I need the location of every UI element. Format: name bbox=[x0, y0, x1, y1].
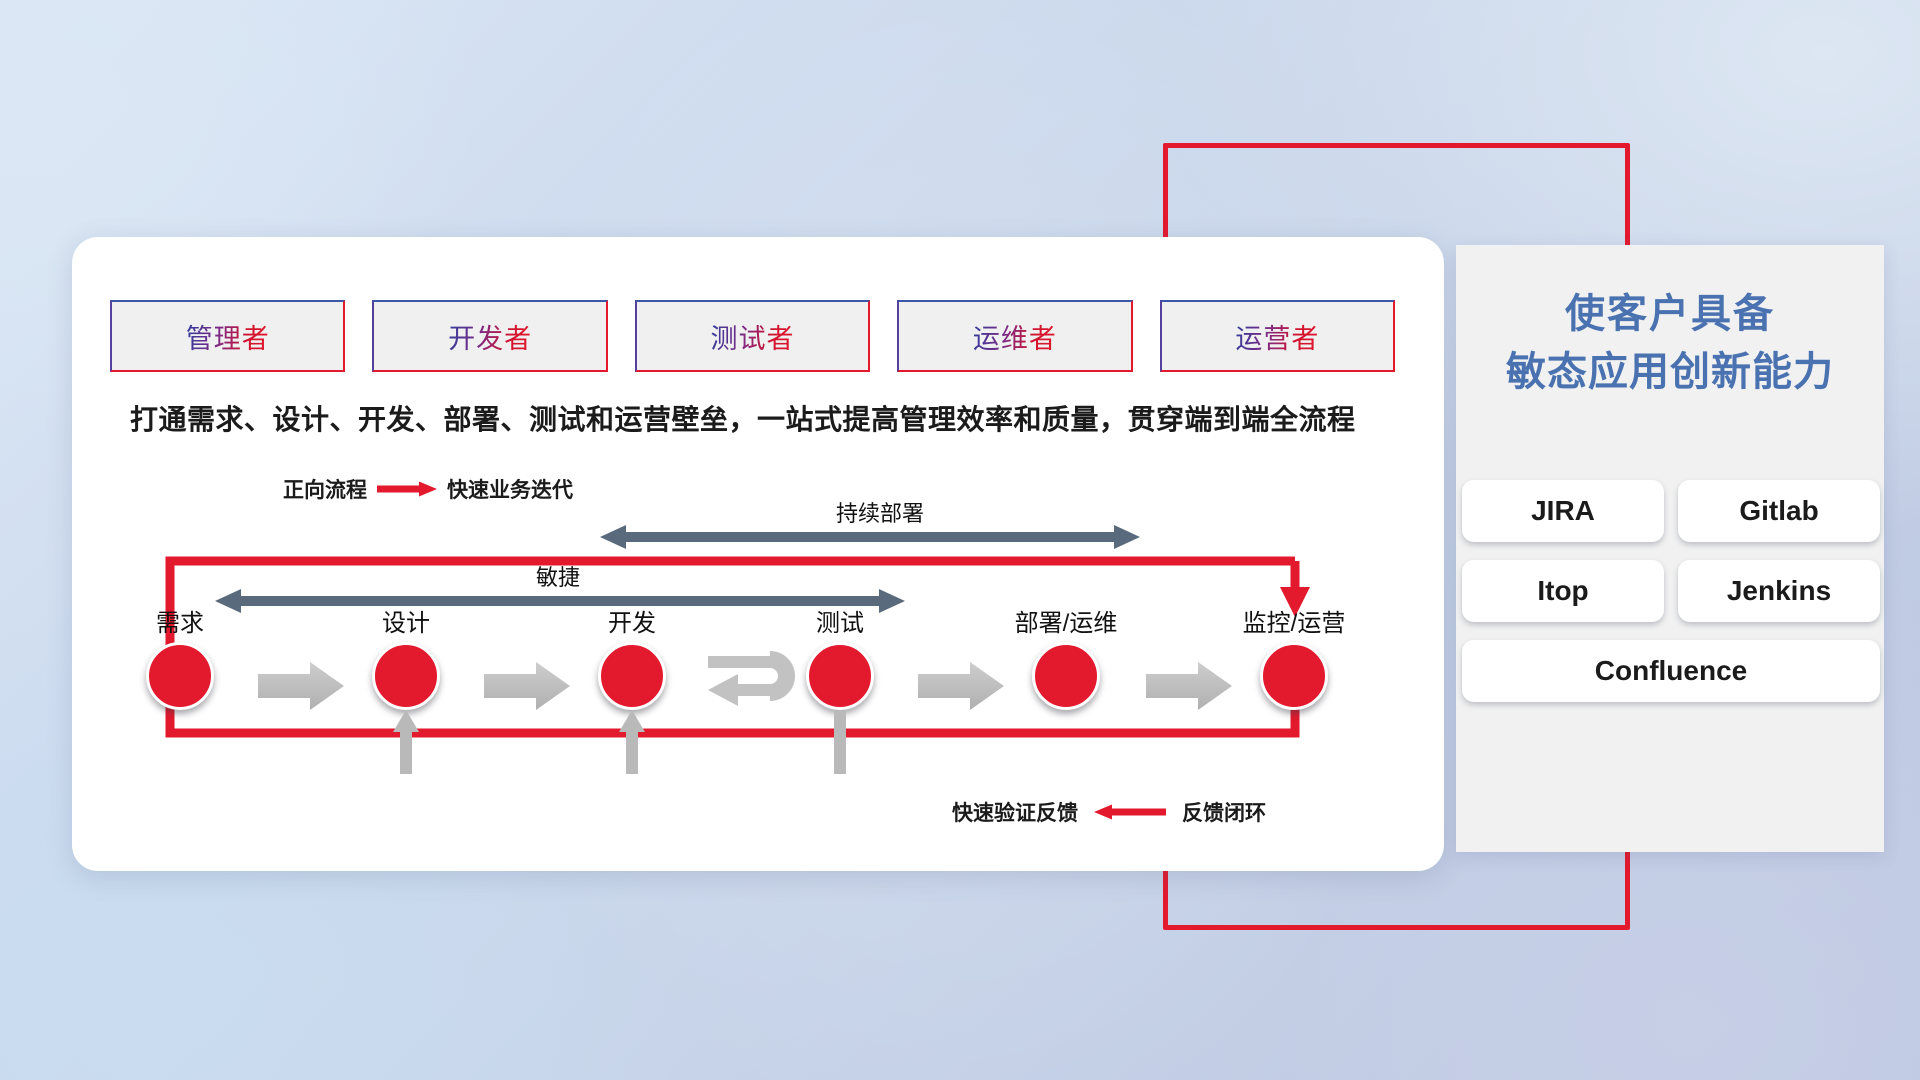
stage-dot bbox=[598, 642, 666, 710]
tool-label: JIRA bbox=[1531, 495, 1595, 527]
tool-label: Gitlab bbox=[1739, 495, 1818, 527]
role-box-manager[interactable]: 管理者 bbox=[110, 300, 345, 372]
role-box-tester[interactable]: 测试者 bbox=[635, 300, 870, 372]
stage-label: 部署/运维 bbox=[996, 612, 1136, 636]
role-label: 管理者 bbox=[186, 317, 270, 356]
role-box-developer[interactable]: 开发者 bbox=[372, 300, 607, 372]
tool-chip-itop[interactable]: Itop bbox=[1462, 560, 1664, 622]
tool-label: Jenkins bbox=[1727, 575, 1831, 607]
gray-right-arrow-icon bbox=[484, 660, 570, 712]
stage-design[interactable]: 设计 bbox=[336, 612, 476, 710]
stage-label: 开发 bbox=[562, 612, 702, 636]
stage-dot bbox=[1032, 642, 1100, 710]
role-label: 运营者 bbox=[1235, 317, 1319, 356]
tool-label: Confluence bbox=[1595, 655, 1747, 687]
role-box-ops[interactable]: 运维者 bbox=[897, 300, 1132, 372]
role-label: 运维者 bbox=[973, 317, 1057, 356]
forward-flow-left-label: 正向流程 bbox=[283, 474, 367, 504]
stage-dot bbox=[806, 642, 874, 710]
forward-flow-right-label: 快速业务迭代 bbox=[447, 474, 573, 504]
gray-up-arrow-icon bbox=[393, 710, 419, 774]
gray-right-arrow-icon bbox=[1146, 660, 1232, 712]
stage-testing[interactable]: 测试 bbox=[770, 612, 910, 710]
tool-chip-jira[interactable]: JIRA bbox=[1462, 480, 1664, 542]
stage-label: 需求 bbox=[110, 612, 250, 636]
stage-requirements[interactable]: 需求 bbox=[110, 612, 250, 710]
stage-label: 设计 bbox=[336, 612, 476, 636]
role-box-operations[interactable]: 运营者 bbox=[1160, 300, 1395, 372]
feedback-left-label: 快速验证反馈 bbox=[952, 797, 1078, 827]
tool-chip-gitlab[interactable]: Gitlab bbox=[1678, 480, 1880, 542]
gray-up-arrow-icon bbox=[619, 710, 645, 774]
stage-dot bbox=[1260, 642, 1328, 710]
stage-label: 测试 bbox=[770, 612, 910, 636]
forward-flow-legend: 正向流程 快速业务迭代 bbox=[283, 473, 573, 505]
outcome-panel-title: 使客户具备 敏态应用创新能力 bbox=[1456, 285, 1884, 401]
feedback-right-label: 反馈闭环 bbox=[1182, 797, 1266, 827]
stage-dot bbox=[372, 642, 440, 710]
role-label: 测试者 bbox=[711, 317, 795, 356]
tool-chip-grid: JIRA Gitlab Itop Jenkins Confluence bbox=[1462, 480, 1880, 702]
headline-text: 打通需求、设计、开发、部署、测试和运营壁垒，一站式提高管理效率和质量，贯穿端到端… bbox=[130, 398, 1430, 438]
pipeline-stages: 需求 设计 开发 测试 部署/运维 监控/运营 bbox=[110, 612, 1430, 772]
tool-chip-jenkins[interactable]: Jenkins bbox=[1678, 560, 1880, 622]
stage-monitor-operations[interactable]: 监控/运营 bbox=[1224, 612, 1364, 710]
stage-development[interactable]: 开发 bbox=[562, 612, 702, 710]
tool-chip-confluence[interactable]: Confluence bbox=[1462, 640, 1880, 702]
role-label: 开发者 bbox=[448, 317, 532, 356]
red-left-arrow-icon bbox=[1094, 804, 1166, 820]
stage-label: 监控/运营 bbox=[1224, 612, 1364, 636]
tool-label: Itop bbox=[1537, 575, 1588, 607]
outcome-title-line2: 敏态应用创新能力 bbox=[1456, 343, 1884, 401]
role-box-row: 管理者 开发者 测试者 运维者 运营者 bbox=[110, 300, 1395, 372]
stage-dot bbox=[146, 642, 214, 710]
feedback-loop-legend: 快速验证反馈 反馈闭环 bbox=[952, 796, 1266, 828]
stage-deploy-ops[interactable]: 部署/运维 bbox=[996, 612, 1136, 710]
gray-down-stem-icon bbox=[827, 710, 853, 774]
outcome-title-line1: 使客户具备 bbox=[1456, 285, 1884, 343]
gray-right-arrow-icon bbox=[258, 660, 344, 712]
red-right-arrow-icon bbox=[377, 481, 437, 497]
gray-right-arrow-icon bbox=[918, 660, 1004, 712]
